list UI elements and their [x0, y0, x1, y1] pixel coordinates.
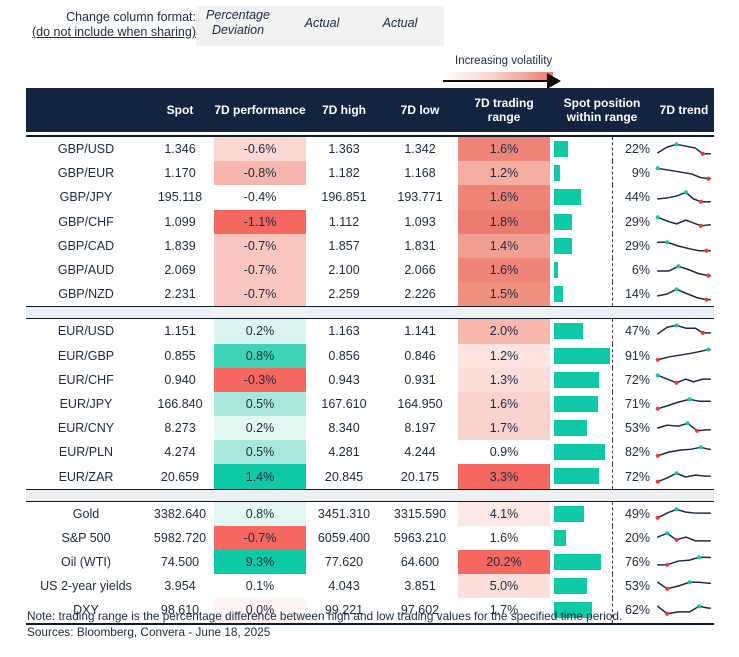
cell-high: 1.163	[306, 319, 382, 343]
cell-high: 0.856	[306, 344, 382, 368]
cell-trading-range: 1.6%	[458, 392, 550, 416]
midpoint-reference-line	[612, 161, 613, 185]
spot-position-bar	[554, 372, 599, 388]
cell-low: 64.600	[382, 550, 458, 574]
sparkline-chart	[654, 526, 714, 550]
column-header-low[interactable]: 7D low	[382, 88, 458, 132]
cell-spot: 20.659	[146, 464, 214, 488]
cell-performance: 0.8%	[214, 502, 306, 526]
format-option-low[interactable]: Actual	[366, 6, 434, 40]
midpoint-reference-line	[612, 344, 613, 368]
cell-trend	[654, 234, 714, 258]
spot-position-value: 44%	[625, 185, 650, 209]
cell-trend	[654, 344, 714, 368]
midpoint-reference-line	[612, 234, 613, 258]
spot-position-value: 20%	[625, 526, 650, 550]
cell-trend	[654, 440, 714, 464]
footer-notes: Note: trading range is the percentage di…	[27, 609, 717, 640]
row-label: EUR/CHF	[26, 368, 146, 392]
cell-performance: -0.7%	[214, 282, 306, 306]
cell-spot-position: 9%	[550, 161, 654, 185]
cell-low: 20.175	[382, 464, 458, 488]
cell-trading-range: 5.0%	[458, 574, 550, 598]
cell-trading-range: 1.8%	[458, 210, 550, 234]
sparkline-chart	[654, 416, 714, 440]
cell-trend	[654, 550, 714, 574]
cell-performance: 1.4%	[214, 464, 306, 488]
table-row[interactable]: GBP/CHF1.099-1.1%1.1121.0931.8%29%	[26, 210, 714, 234]
spot-position-bar	[554, 396, 598, 412]
spot-position-bar	[554, 530, 566, 546]
spot-position-value: 29%	[625, 210, 650, 234]
format-option-line1: Actual	[305, 16, 340, 31]
cell-spot-position: 76%	[550, 550, 654, 574]
cell-low: 1.141	[382, 319, 458, 343]
cell-spot-position: 72%	[550, 368, 654, 392]
row-label: EUR/GBP	[26, 344, 146, 368]
table-row[interactable]: EUR/CNY8.2730.2%8.3408.1971.7%53%	[26, 416, 714, 440]
cell-spot: 1.099	[146, 210, 214, 234]
spot-position-bar	[554, 348, 610, 364]
sparkline-chart	[654, 319, 714, 343]
cell-low: 0.846	[382, 344, 458, 368]
cell-low: 4.244	[382, 440, 458, 464]
cell-high: 2.100	[306, 258, 382, 282]
cell-trend	[654, 502, 714, 526]
column-header-pos[interactable]: Spot position within range	[550, 88, 654, 132]
cell-spot: 2.231	[146, 282, 214, 306]
midpoint-reference-line	[612, 502, 613, 526]
cell-spot: 0.940	[146, 368, 214, 392]
cell-low: 5963.210	[382, 526, 458, 550]
cell-performance: -0.7%	[214, 258, 306, 282]
table-row[interactable]: EUR/JPY166.8400.5%167.610164.9501.6%71%	[26, 392, 714, 416]
cell-performance: -0.8%	[214, 161, 306, 185]
spot-position-bar	[554, 165, 560, 181]
row-label: EUR/USD	[26, 319, 146, 343]
sparkline-chart	[654, 368, 714, 392]
table-body: GBP/USD1.346-0.6%1.3631.3421.6%22%GBP/EU…	[26, 135, 714, 625]
format-option-high[interactable]: Actual	[288, 6, 356, 40]
table-row[interactable]: GBP/AUD2.069-0.7%2.1002.0661.6%6%	[26, 258, 714, 282]
spot-position-value: 14%	[625, 282, 650, 306]
cell-spot: 1.346	[146, 137, 214, 161]
format-option-line2: Deviation	[206, 23, 270, 38]
volatility-arrow-icon	[547, 73, 561, 89]
cell-spot-position: 20%	[550, 526, 654, 550]
cell-spot-position: 53%	[550, 416, 654, 440]
cell-trend	[654, 392, 714, 416]
cell-trend	[654, 319, 714, 343]
row-label: GBP/EUR	[26, 161, 146, 185]
midpoint-reference-line	[612, 440, 613, 464]
table-row[interactable]: S&P 5005982.720-0.7%6059.4005963.2101.6%…	[26, 526, 714, 550]
cell-performance: -0.7%	[214, 234, 306, 258]
spot-position-bar	[554, 214, 572, 230]
cell-spot-position: 53%	[550, 574, 654, 598]
cell-low: 193.771	[382, 185, 458, 209]
cell-performance: 0.1%	[214, 574, 306, 598]
cell-trading-range: 1.6%	[458, 258, 550, 282]
sparkline-chart	[654, 137, 714, 161]
cell-high: 167.610	[306, 392, 382, 416]
spot-position-value: 6%	[632, 258, 650, 282]
change-column-format-label: Change column format: (do not include wh…	[30, 10, 196, 40]
cell-low: 0.931	[382, 368, 458, 392]
cell-spot-position: 44%	[550, 185, 654, 209]
cell-spot: 1.151	[146, 319, 214, 343]
spot-position-bar	[554, 420, 587, 436]
cell-trading-range: 1.2%	[458, 344, 550, 368]
cell-low: 2.066	[382, 258, 458, 282]
cell-spot: 4.274	[146, 440, 214, 464]
cell-spot: 5982.720	[146, 526, 214, 550]
cell-trend	[654, 258, 714, 282]
sparkline-chart	[654, 392, 714, 416]
column-header-perf[interactable]: 7D performance	[214, 88, 306, 132]
table-row[interactable]: Oil (WTI)74.5009.3%77.62064.60020.2%76%	[26, 550, 714, 574]
spot-position-bar	[554, 444, 605, 460]
cell-spot-position: 82%	[550, 440, 654, 464]
cell-trend	[654, 368, 714, 392]
midpoint-reference-line	[612, 416, 613, 440]
cell-spot-position: 71%	[550, 392, 654, 416]
spot-position-bar	[554, 189, 581, 205]
cell-spot-position: 49%	[550, 502, 654, 526]
cell-performance: -1.1%	[214, 210, 306, 234]
spot-position-bar	[554, 468, 599, 484]
fx-rates-table-page: Change column format: (do not include wh…	[0, 0, 739, 657]
spot-position-value: 9%	[632, 161, 650, 185]
midpoint-reference-line	[612, 368, 613, 392]
cell-high: 4.043	[306, 574, 382, 598]
cell-trading-range: 1.6%	[458, 185, 550, 209]
cell-high: 1.112	[306, 210, 382, 234]
cell-trading-range: 2.0%	[458, 319, 550, 343]
cell-low: 1.168	[382, 161, 458, 185]
midpoint-reference-line	[612, 464, 613, 488]
cell-spot: 195.118	[146, 185, 214, 209]
cell-spot: 3.954	[146, 574, 214, 598]
cell-low: 164.950	[382, 392, 458, 416]
row-label: S&P 500	[26, 526, 146, 550]
spot-position-bar	[554, 506, 584, 522]
cell-spot: 166.840	[146, 392, 214, 416]
table-row[interactable]: US 2-year yields3.9540.1%4.0433.8515.0%5…	[26, 574, 714, 598]
sparkline-chart	[654, 161, 714, 185]
table-row[interactable]: EUR/PLN4.2740.5%4.2814.2440.9%82%	[26, 440, 714, 464]
spot-position-value: 91%	[625, 344, 650, 368]
cell-high: 2.259	[306, 282, 382, 306]
cell-trend	[654, 137, 714, 161]
table-header-row: Spot7D performance7D high7D low7D tradin…	[26, 88, 714, 132]
cell-trend	[654, 464, 714, 488]
cell-performance: 0.2%	[214, 416, 306, 440]
cell-low: 1.342	[382, 137, 458, 161]
cell-high: 1.182	[306, 161, 382, 185]
table-row[interactable]: GBP/CAD1.839-0.7%1.8571.8311.4%29%	[26, 234, 714, 258]
column-header-high[interactable]: 7D high	[306, 88, 382, 132]
spot-position-value: 47%	[625, 319, 650, 343]
row-label: EUR/PLN	[26, 440, 146, 464]
column-header-range[interactable]: 7D trading range	[458, 88, 550, 132]
spot-position-value: 76%	[625, 550, 650, 574]
cell-low: 3.851	[382, 574, 458, 598]
footer-sources: Sources: Bloomberg, Convera - June 18, 2…	[27, 625, 717, 641]
format-option-performance[interactable]: Percentage Deviation	[200, 6, 276, 40]
row-label: GBP/AUD	[26, 258, 146, 282]
cell-high: 196.851	[306, 185, 382, 209]
spot-position-value: 82%	[625, 440, 650, 464]
cell-trading-range: 4.1%	[458, 502, 550, 526]
midpoint-reference-line	[612, 282, 613, 306]
cell-spot-position: 29%	[550, 234, 654, 258]
cell-performance: -0.4%	[214, 185, 306, 209]
table-row[interactable]: GBP/EUR1.170-0.8%1.1821.1681.2%9%	[26, 161, 714, 185]
spot-position-value: 29%	[625, 234, 650, 258]
column-header-trend[interactable]: 7D trend	[654, 88, 714, 132]
spot-position-bar	[554, 141, 568, 157]
volatility-legend: Increasing volatility	[443, 55, 583, 85]
cell-low: 8.197	[382, 416, 458, 440]
sparkline-chart	[654, 440, 714, 464]
format-option-line1: Actual	[383, 16, 418, 31]
cell-spot-position: 29%	[550, 210, 654, 234]
cell-trend	[654, 416, 714, 440]
table-row[interactable]: EUR/ZAR20.6591.4%20.84520.1753.3%72%	[26, 464, 714, 488]
cell-spot-position: 91%	[550, 344, 654, 368]
cell-spot-position: 72%	[550, 464, 654, 488]
row-label: EUR/ZAR	[26, 464, 146, 488]
cell-trading-range: 1.7%	[458, 416, 550, 440]
cell-trend	[654, 526, 714, 550]
cell-trading-range: 1.3%	[458, 368, 550, 392]
midpoint-reference-line	[612, 574, 613, 598]
sparkline-chart	[654, 234, 714, 258]
cell-high: 6059.400	[306, 526, 382, 550]
spot-position-bar	[554, 286, 563, 302]
row-label: EUR/CNY	[26, 416, 146, 440]
row-label: GBP/CHF	[26, 210, 146, 234]
cell-spot-position: 6%	[550, 258, 654, 282]
sparkline-chart	[654, 465, 714, 489]
cell-low: 2.226	[382, 282, 458, 306]
cell-trading-range: 1.4%	[458, 234, 550, 258]
rates-table: Spot7D performance7D high7D low7D tradin…	[26, 88, 714, 625]
cell-performance: 0.5%	[214, 440, 306, 464]
sparkline-chart	[654, 502, 714, 526]
footer-note: Note: trading range is the percentage di…	[27, 609, 717, 625]
spot-position-value: 53%	[625, 574, 650, 598]
spot-position-bar	[554, 578, 587, 594]
cell-performance: 9.3%	[214, 550, 306, 574]
sparkline-chart	[654, 344, 714, 368]
midpoint-reference-line	[612, 392, 613, 416]
cell-trading-range: 0.9%	[458, 440, 550, 464]
cell-performance: 0.5%	[214, 392, 306, 416]
cell-trading-range: 20.2%	[458, 550, 550, 574]
sparkline-chart	[654, 210, 714, 234]
cell-high: 0.943	[306, 368, 382, 392]
cell-spot-position: 14%	[550, 282, 654, 306]
cell-spot: 1.839	[146, 234, 214, 258]
section-divider	[26, 306, 714, 319]
row-label: Gold	[26, 502, 146, 526]
table-row[interactable]: EUR/USD1.1510.2%1.1631.1412.0%47%	[26, 319, 714, 343]
table-row[interactable]: GBP/USD1.346-0.6%1.3631.3421.6%22%	[26, 137, 714, 161]
cell-trading-range: 1.6%	[458, 526, 550, 550]
cell-high: 77.620	[306, 550, 382, 574]
midpoint-reference-line	[612, 210, 613, 234]
sparkline-chart	[654, 574, 714, 598]
spot-position-value: 22%	[625, 137, 650, 161]
cell-performance: 0.2%	[214, 319, 306, 343]
section-divider	[26, 489, 714, 502]
sparkline-chart	[654, 258, 714, 282]
column-header-name[interactable]	[26, 88, 146, 132]
table-row[interactable]: GBP/JPY195.118-0.4%196.851193.7711.6%44%	[26, 185, 714, 209]
cell-spot: 3382.640	[146, 502, 214, 526]
cell-spot: 2.069	[146, 258, 214, 282]
spot-position-bar	[554, 554, 601, 570]
row-label: GBP/NZD	[26, 282, 146, 306]
row-label: Oil (WTI)	[26, 550, 146, 574]
cell-spot-position: 47%	[550, 319, 654, 343]
table-row[interactable]: Gold3382.6400.8%3451.3103315.5904.1%49%	[26, 502, 714, 526]
format-label-line2[interactable]: (do not include when sharing)	[30, 25, 196, 40]
row-label: GBP/CAD	[26, 234, 146, 258]
row-label: EUR/JPY	[26, 392, 146, 416]
sparkline-chart	[654, 185, 714, 209]
cell-trend	[654, 161, 714, 185]
column-header-spot[interactable]: Spot	[146, 88, 214, 132]
cell-high: 1.857	[306, 234, 382, 258]
cell-spot: 74.500	[146, 550, 214, 574]
cell-trading-range: 3.3%	[458, 464, 550, 488]
table-row[interactable]: GBP/NZD2.231-0.7%2.2592.2261.5%14%	[26, 282, 714, 306]
format-label-line1: Change column format:	[66, 10, 196, 24]
midpoint-reference-line	[612, 526, 613, 550]
volatility-axis-line	[443, 80, 551, 82]
spot-position-value: 53%	[625, 416, 650, 440]
cell-trading-range: 1.6%	[458, 137, 550, 161]
row-label: GBP/JPY	[26, 185, 146, 209]
cell-spot: 1.170	[146, 161, 214, 185]
spot-position-value: 49%	[625, 502, 650, 526]
cell-high: 4.281	[306, 440, 382, 464]
midpoint-reference-line	[612, 319, 613, 343]
cell-spot: 0.855	[146, 344, 214, 368]
cell-high: 20.845	[306, 464, 382, 488]
table-row[interactable]: EUR/GBP0.8550.8%0.8560.8461.2%91%	[26, 344, 714, 368]
cell-high: 8.340	[306, 416, 382, 440]
cell-trend	[654, 282, 714, 306]
sparkline-chart	[654, 282, 714, 306]
midpoint-reference-line	[612, 258, 613, 282]
cell-trend	[654, 185, 714, 209]
spot-position-value: 71%	[625, 392, 650, 416]
cell-trend	[654, 210, 714, 234]
cell-high: 1.363	[306, 137, 382, 161]
cell-performance: 0.8%	[214, 344, 306, 368]
midpoint-reference-line	[612, 185, 613, 209]
cell-trading-range: 1.5%	[458, 282, 550, 306]
spot-position-value: 72%	[625, 464, 650, 488]
cell-performance: -0.6%	[214, 137, 306, 161]
cell-performance: -0.3%	[214, 368, 306, 392]
row-label: GBP/USD	[26, 137, 146, 161]
row-label: US 2-year yields	[26, 574, 146, 598]
cell-low: 3315.590	[382, 502, 458, 526]
cell-low: 1.831	[382, 234, 458, 258]
cell-low: 1.093	[382, 210, 458, 234]
format-option-line1: Percentage	[206, 8, 270, 23]
midpoint-reference-line	[612, 137, 613, 161]
spot-position-bar	[554, 262, 558, 278]
cell-trading-range: 1.2%	[458, 161, 550, 185]
cell-high: 3451.310	[306, 502, 382, 526]
cell-spot: 8.273	[146, 416, 214, 440]
table-row[interactable]: EUR/CHF0.940-0.3%0.9430.9311.3%72%	[26, 368, 714, 392]
cell-performance: -0.7%	[214, 526, 306, 550]
volatility-legend-label: Increasing volatility	[455, 55, 552, 67]
spot-position-bar	[554, 323, 583, 339]
sparkline-chart	[654, 550, 714, 574]
spot-position-value: 72%	[625, 368, 650, 392]
midpoint-reference-line	[612, 550, 613, 574]
cell-spot-position: 22%	[550, 137, 654, 161]
spot-position-bar	[554, 238, 572, 254]
cell-trend	[654, 574, 714, 598]
